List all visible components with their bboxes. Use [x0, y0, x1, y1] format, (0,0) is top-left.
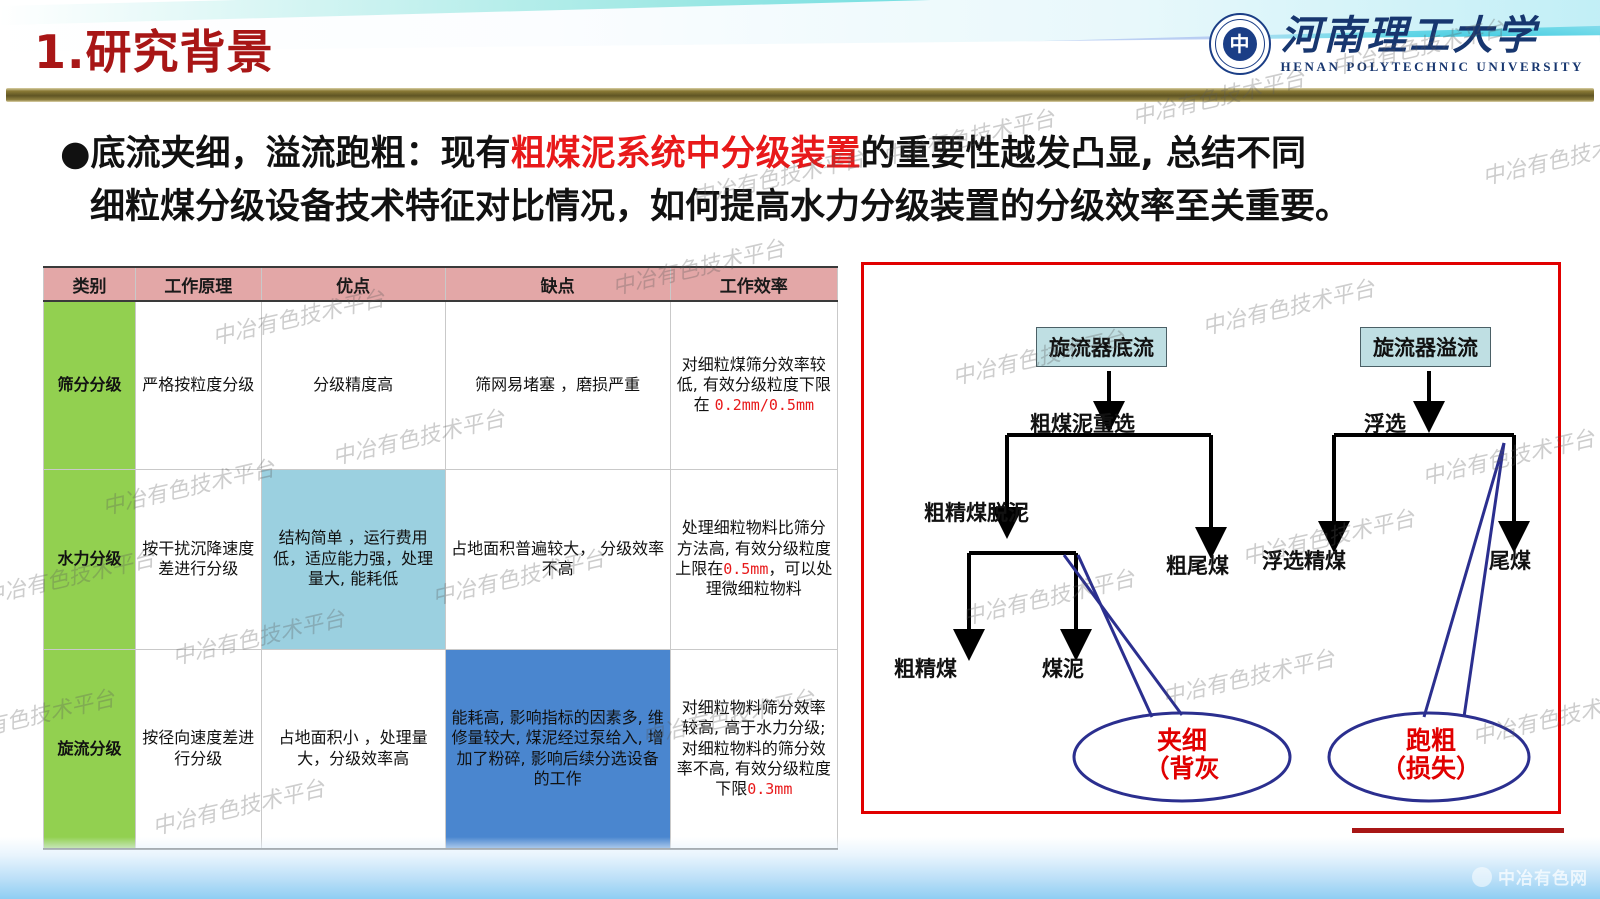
logo-chinese-name: 河南理工大学	[1281, 16, 1584, 56]
label-coal-slime: 煤泥	[1042, 653, 1084, 683]
comparison-table: 类别 工作原理 优点 缺点 工作效率 筛分分级 严格按粒度分级 分级精度高 筛网…	[43, 266, 838, 850]
col-header-efficiency: 工作效率	[670, 267, 837, 301]
callout-leader-b2	[1464, 443, 1504, 717]
callout-leader-b1	[1424, 443, 1504, 717]
callout-jiaxi-line2: （背灰	[1102, 755, 1262, 783]
seal-glyph: 中	[1223, 27, 1257, 61]
callout-leader-a2	[1078, 555, 1152, 717]
col-header-cons: 缺点	[445, 267, 670, 301]
label-flotation: 浮选	[1364, 408, 1406, 438]
col-header-principle: 工作原理	[136, 267, 262, 301]
cell-efficiency: 对细粒物料筛分效率较高, 高于水力分级; 对细粒物料的筛分效率不高, 有效分级粒…	[670, 649, 837, 849]
cell-pros: 分级精度高	[261, 301, 445, 469]
body-line1-b: 的重要性越发凸显, 总结不同	[861, 134, 1306, 174]
flow-diagram: 旋流器底流 粗煤泥重选 粗精煤脱泥 粗精煤 煤泥 粗尾煤 旋流器溢流 浮选 浮选…	[861, 262, 1561, 814]
cell-principle: 按干扰沉降速度差进行分级	[136, 469, 262, 649]
logo-english-name: HENAN POLYTECHNIC UNIVERSITY	[1281, 60, 1584, 73]
university-logo: 中 河南理工大学 HENAN POLYTECHNIC UNIVERSITY	[1209, 8, 1584, 80]
callout-jiaxi: 夹细 （背灰	[1102, 727, 1262, 783]
callout-paocu-line2: （损失）	[1351, 755, 1511, 783]
cell-principle: 按径向速度差进行分级	[136, 649, 262, 849]
efficiency-value: 0.5mm	[723, 560, 768, 578]
cell-cons: 筛网易堵塞 ，磨损严重	[445, 301, 670, 469]
cell-cons: 占地面积普遍较大， 分级效率不高	[445, 469, 670, 649]
label-coarse-slime-reselection: 粗煤泥重选	[1030, 408, 1135, 438]
table-row: 旋流分级 按径向速度差进行分级 占地面积小 ，处理量大，分级效率高 能耗高, 影…	[44, 649, 838, 849]
table-row: 筛分分级 严格按粒度分级 分级精度高 筛网易堵塞 ，磨损严重 对细粒煤筛分效率较…	[44, 301, 838, 469]
table-header-row: 类别 工作原理 优点 缺点 工作效率	[44, 267, 838, 301]
title-divider-bar	[6, 88, 1594, 102]
cell-pros: 结构简单 ，运行费用低，适应能力强，处理量大, 能耗低	[261, 469, 445, 649]
footer-red-bar	[1352, 828, 1564, 833]
cell-efficiency: 对细粒煤筛分效率较低, 有效分级粒度下限在 0.2mm/0.5mm	[670, 301, 837, 469]
university-seal-icon: 中	[1209, 13, 1271, 75]
label-flotation-clean-coal: 浮选精煤	[1262, 545, 1346, 575]
footer-watermark: 中冶有色网	[1472, 864, 1588, 889]
body-line1-a: 底流夹细，溢流跑粗：现有	[91, 134, 511, 174]
table-head: 类别 工作原理 优点 缺点 工作效率	[44, 267, 838, 301]
body-line-1: ●底流夹细，溢流跑粗：现有粗煤泥系统中分级装置的重要性越发凸显, 总结不同	[60, 128, 1540, 181]
cell-category: 水力分级	[44, 469, 136, 649]
bullet-marker: ●	[60, 134, 91, 174]
col-header-category: 类别	[44, 267, 136, 301]
table-body: 筛分分级 严格按粒度分级 分级精度高 筛网易堵塞 ，磨损严重 对细粒煤筛分效率较…	[44, 301, 838, 849]
cell-category: 旋流分级	[44, 649, 136, 849]
efficiency-value: 0.2mm/0.5mm	[715, 396, 814, 414]
cell-efficiency: 处理细粒物料比筛分方法高, 有效分级粒度上限在0.5mm，可以处理微细粒物料	[670, 469, 837, 649]
body-line-2: 细粒煤分级设备技术特征对比情况，如何提高水力分级装置的分级效率至关重要。	[60, 181, 1540, 234]
footer-watermark-icon	[1472, 867, 1492, 887]
col-header-pros: 优点	[261, 267, 445, 301]
comparison-table-wrapper: 类别 工作原理 优点 缺点 工作效率 筛分分级 严格按粒度分级 分级精度高 筛网…	[43, 266, 838, 814]
table-row: 水力分级 按干扰沉降速度差进行分级 结构简单 ，运行费用低，适应能力强，处理量大…	[44, 469, 838, 649]
label-coarse-clean-coal: 粗精煤	[894, 653, 957, 683]
bottom-gradient-band	[0, 837, 1600, 899]
label-coarse-clean-desliming: 粗精煤脱泥	[924, 497, 1029, 527]
node-cyclone-overflow: 旋流器溢流	[1360, 327, 1491, 367]
cell-principle: 严格按粒度分级	[136, 301, 262, 469]
label-tailings: 尾煤	[1489, 545, 1531, 575]
callout-paocu: 跑粗 （损失）	[1351, 727, 1511, 783]
callout-leader-a1	[1064, 555, 1182, 715]
efficiency-value: 0.3mm	[747, 780, 792, 798]
footer-watermark-text: 中冶有色网	[1498, 864, 1588, 889]
body-line1-highlight: 粗煤泥系统中分级装置	[511, 134, 861, 174]
slide-root: 中 河南理工大学 HENAN POLYTECHNIC UNIVERSITY 1.…	[0, 0, 1600, 899]
logo-text-block: 河南理工大学 HENAN POLYTECHNIC UNIVERSITY	[1281, 16, 1584, 73]
cell-pros: 占地面积小 ，处理量大，分级效率高	[261, 649, 445, 849]
node-cyclone-underflow: 旋流器底流	[1036, 327, 1167, 367]
callout-jiaxi-line1: 夹细	[1102, 727, 1262, 755]
page-title: 1.研究背景	[34, 16, 273, 82]
cell-category: 筛分分级	[44, 301, 136, 469]
body-paragraph: ●底流夹细，溢流跑粗：现有粗煤泥系统中分级装置的重要性越发凸显, 总结不同 细粒…	[60, 128, 1540, 234]
cell-cons: 能耗高, 影响指标的因素多, 维修量较大, 煤泥经过泵给入, 增加了粉碎, 影响…	[445, 649, 670, 849]
callout-paocu-line1: 跑粗	[1351, 727, 1511, 755]
label-coarse-tailings: 粗尾煤	[1166, 550, 1229, 580]
